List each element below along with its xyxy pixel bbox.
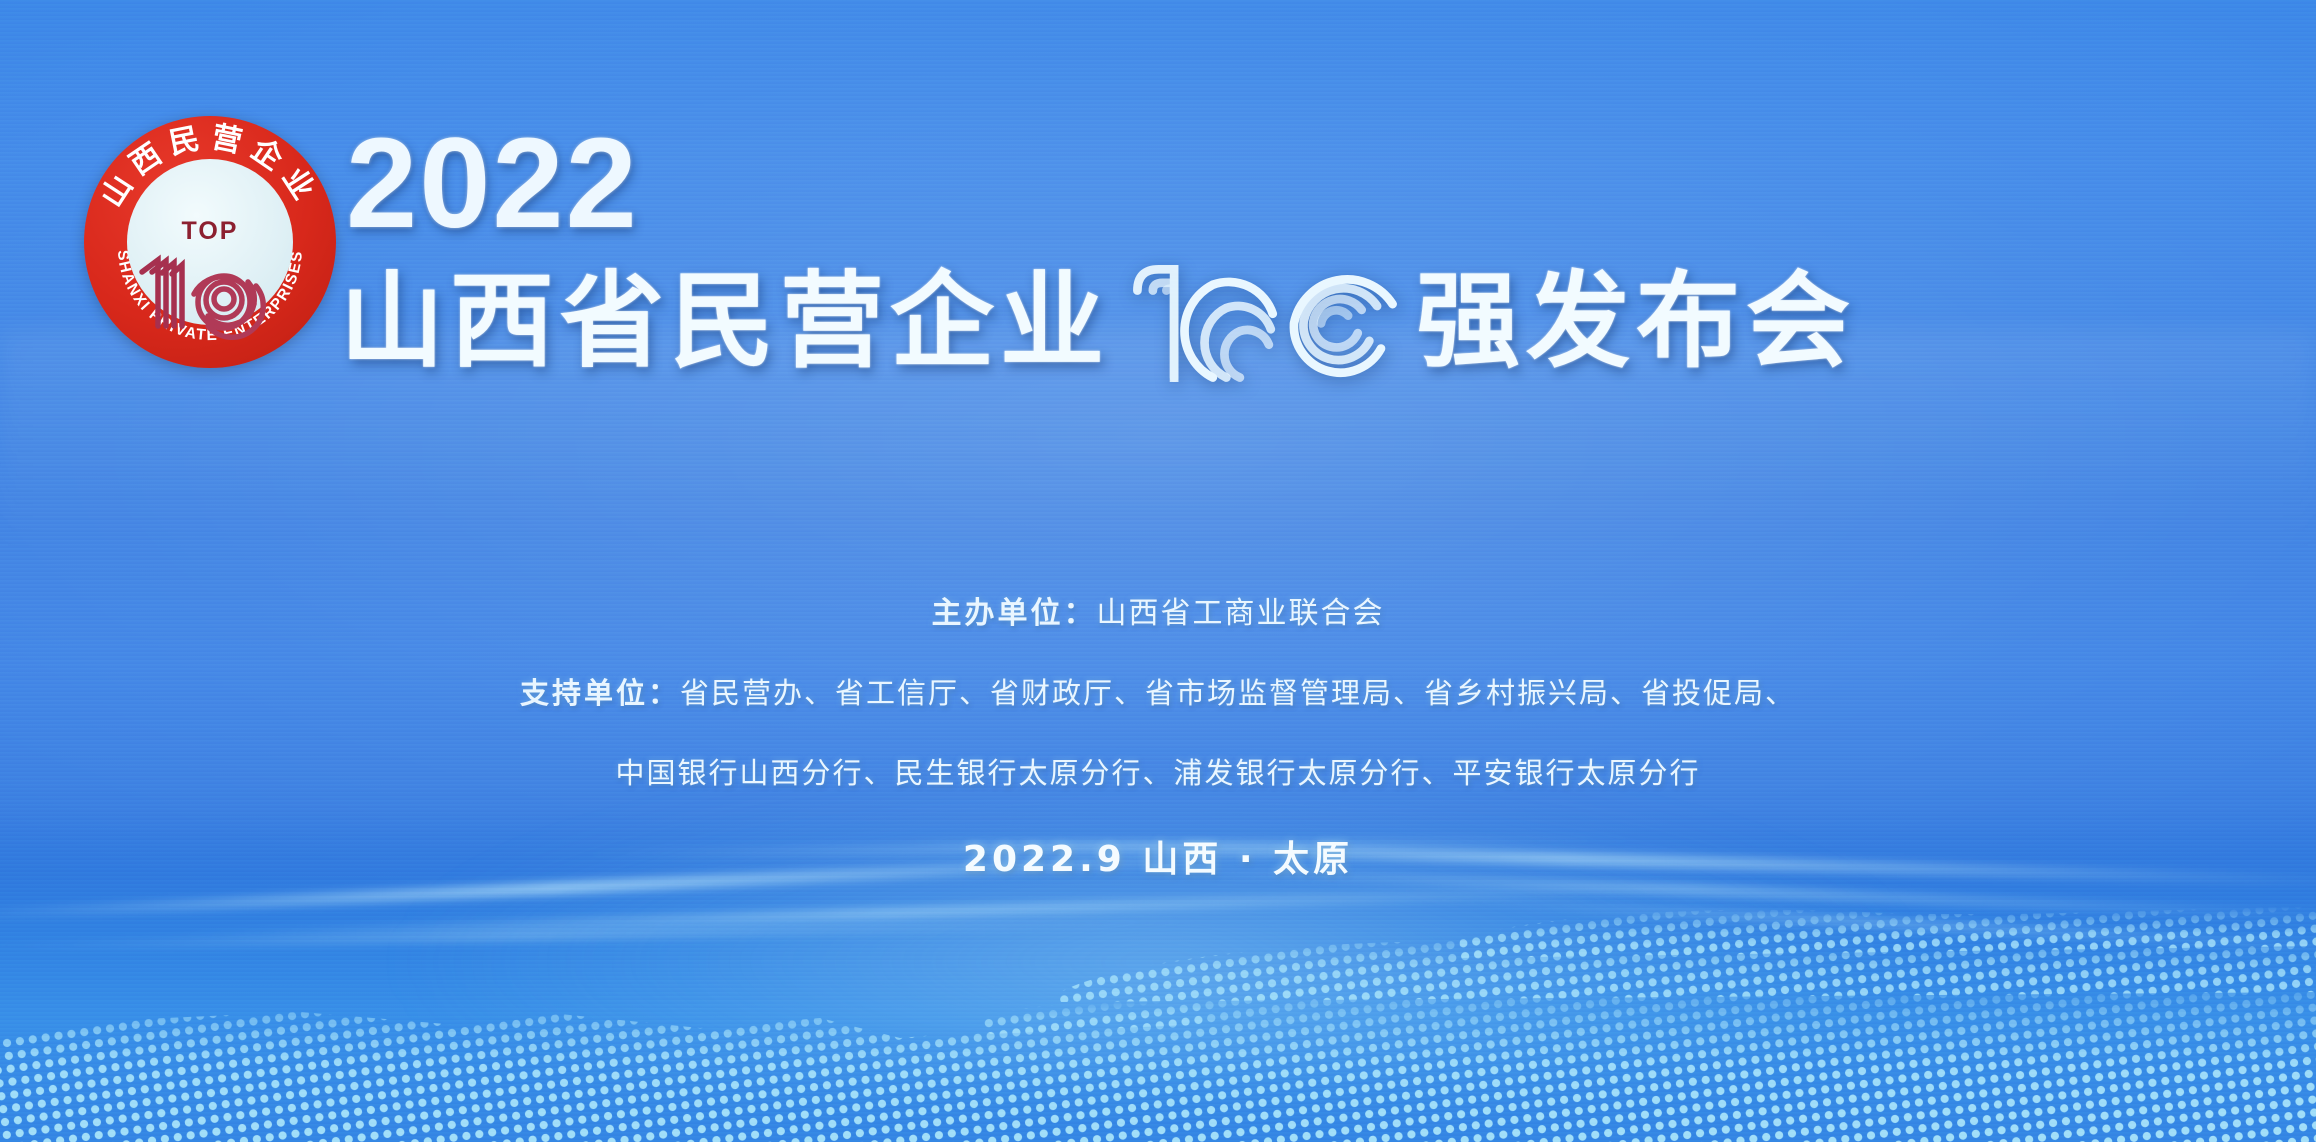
event-title-left: 山西省民营企业 [340,266,1110,376]
dotted-world-map-graphic [0,842,2316,1142]
support-line-2: 中国银行山西分行、民生银行太原分行、浦发银行太原分行、平安银行太原分行 [0,750,2316,792]
event-backdrop-banner: 山西民营企业 SHANXI PRIVATE ENTERPRISES TOP [0,0,2316,1142]
support-line-1: 支持单位：省民营办、省工信厅、省财政厅、省市场监督管理局、省乡村振兴局、省投促局… [0,670,2316,712]
support-value-2: 中国银行山西分行、民生银行太原分行、浦发银行太原分行、平安银行太原分行 [615,756,1700,790]
support-label: 支持单位： [520,676,680,710]
event-title-right: 强发布会 [1416,266,1856,376]
top100-mark-icon [1120,232,1410,382]
host-line: 主办单位：山西省工商业联合会 [0,588,2316,632]
support-value-1: 省民营办、省工信厅、省财政厅、省市场监督管理局、省乡村振兴局、省投促局、 [680,676,1796,710]
logo-center-number [84,242,336,346]
event-year: 2022 [346,120,639,248]
date-and-location: 2022.9 山西 · 太原 [0,830,2316,882]
light-streak [139,881,1806,940]
host-value: 山西省工商业联合会 [1097,596,1385,631]
host-label: 主办单位： [932,596,1097,631]
event-title-row: 山西省民营企业 [340,232,1856,376]
light-streak [0,918,1227,951]
event-headline: 2022 山西省民营企业 [340,120,2220,430]
shanxi-private-enterprises-logo: 山西民营企业 SHANXI PRIVATE ENTERPRISES TOP [84,116,336,368]
light-streak [1390,894,2316,956]
credits-block: 主办单位：山西省工商业联合会 支持单位：省民营办、省工信厅、省财政厅、省市场监督… [0,588,2316,882]
